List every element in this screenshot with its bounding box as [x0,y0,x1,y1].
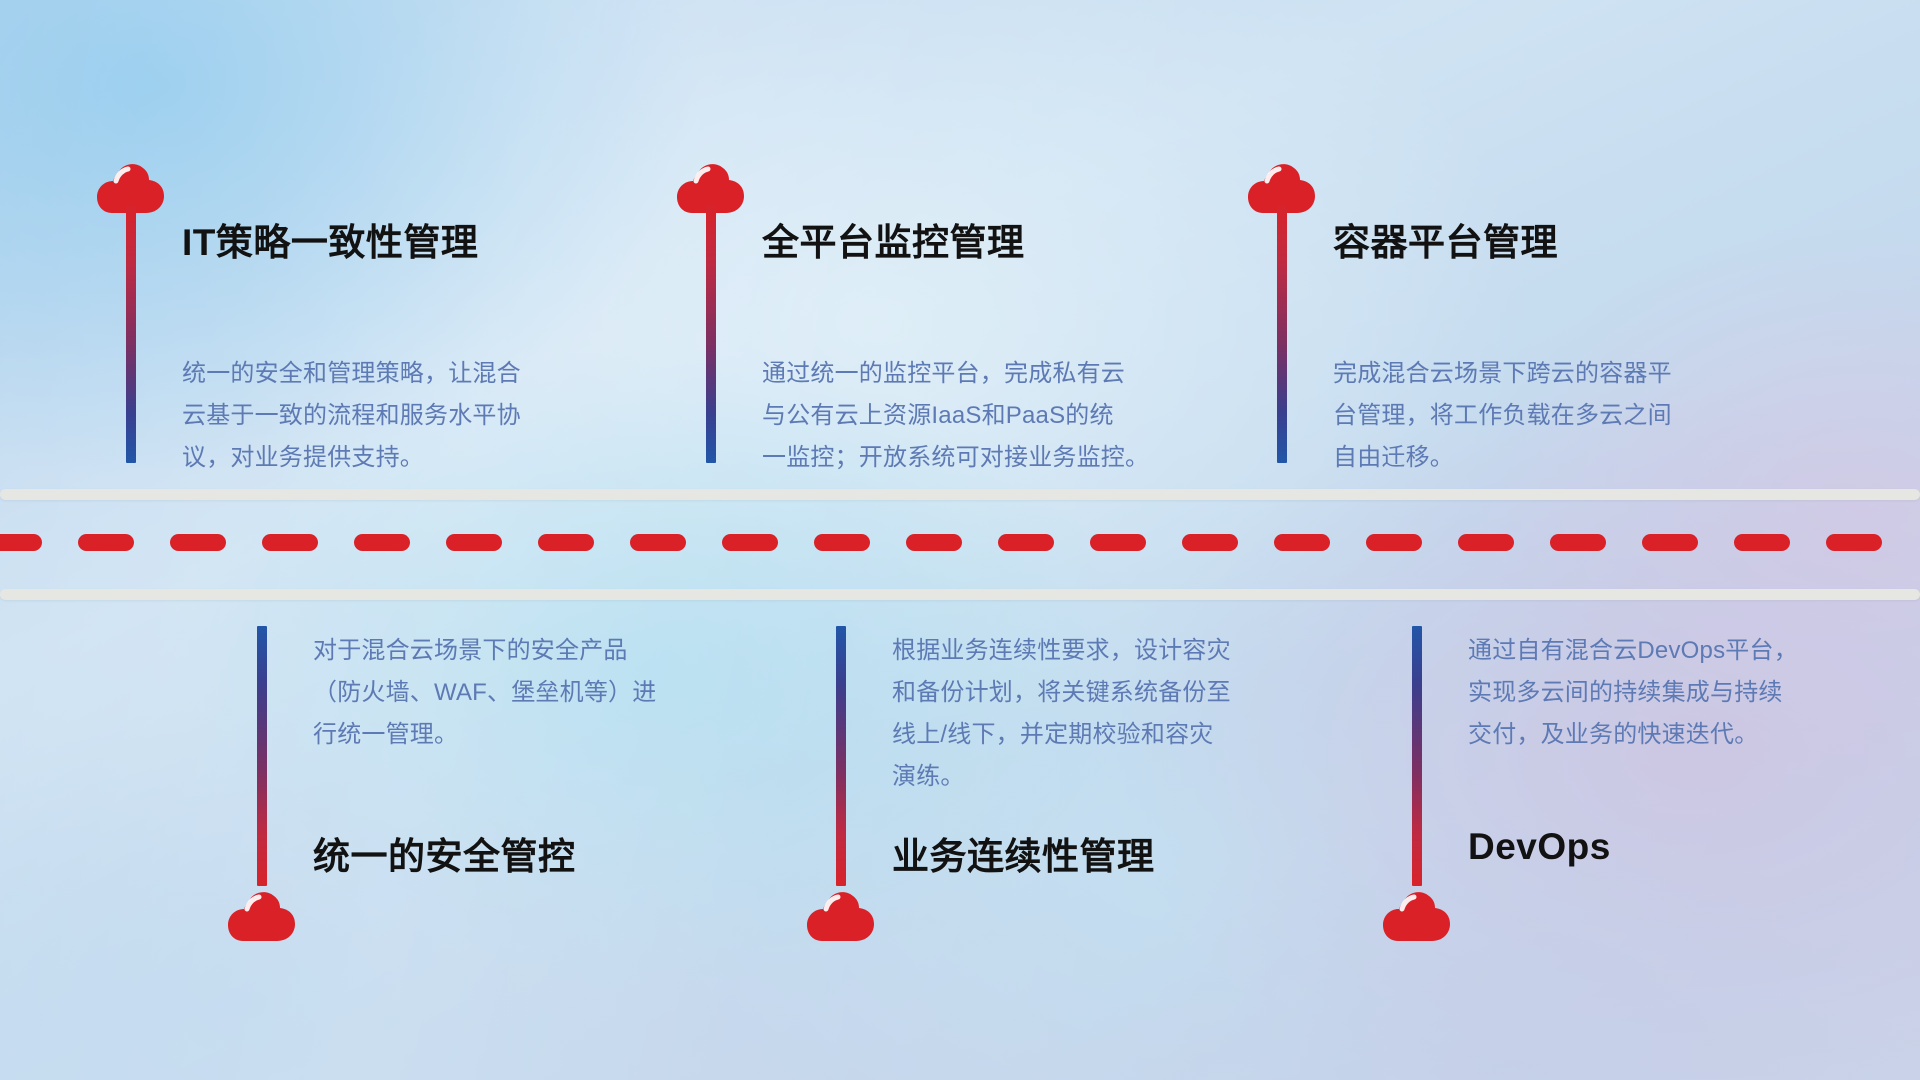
card-body: 通过自有混合云DevOps平台， 实现多云间的持续集成与持续 交付，及业务的快速… [1468,630,1898,756]
divider-dash [1182,534,1238,551]
connector-stem [1277,205,1287,463]
divider-dashed-line [0,534,1920,551]
card-heading: IT策略一致性管理 [182,212,478,266]
divider-bar-upper [0,489,1920,500]
divider-bar-lower [0,589,1920,600]
cloud-icon [805,888,877,944]
divider-dash [1826,534,1882,551]
card-heading: 业务连续性管理 [892,826,1155,880]
infographic-canvas: IT策略一致性管理 统一的安全和管理策略，让混合 云基于一致的流程和服务水平协 … [0,0,1920,1080]
connector-stem [257,626,267,886]
cloud-icon [1381,888,1453,944]
connector-stem [836,626,846,886]
connector-stem [1412,626,1422,886]
divider-dash [262,534,318,551]
divider-dash [814,534,870,551]
divider-dash [1090,534,1146,551]
card-heading: 统一的安全管控 [313,826,576,880]
connector-stem [706,205,716,463]
divider-dash [1642,534,1698,551]
divider-dash [1366,534,1422,551]
divider-dash [538,534,594,551]
card-body: 根据业务连续性要求，设计容灾 和备份计划，将关键系统备份至 线上/线下，并定期校… [892,630,1322,798]
card-body: 通过统一的监控平台，完成私有云 与公有云上资源IaaS和PaaS的统 一监控；开… [762,353,1202,479]
divider-dash [446,534,502,551]
card-heading: 容器平台管理 [1333,212,1558,266]
card-body: 完成混合云场景下跨云的容器平 台管理，将工作负载在多云之间 自由迁移。 [1333,353,1773,479]
card-heading: 全平台监控管理 [762,212,1025,266]
card-body: 对于混合云场景下的安全产品 （防火墙、WAF、堡垒机等）进 行统一管理。 [313,630,743,756]
card-body: 统一的安全和管理策略，让混合 云基于一致的流程和服务水平协 议，对业务提供支持。 [182,353,612,479]
divider-dash [630,534,686,551]
connector-stem [126,205,136,463]
divider-dash [354,534,410,551]
divider-dash [722,534,778,551]
divider-dash [78,534,134,551]
card-heading: DevOps [1468,826,1611,868]
divider-dash [1458,534,1514,551]
divider-dash [1274,534,1330,551]
divider-dash [1734,534,1790,551]
divider-dash [906,534,962,551]
divider-dash [0,534,42,551]
divider-dash [1550,534,1606,551]
divider-dash [998,534,1054,551]
cloud-icon [226,888,298,944]
divider-dash [170,534,226,551]
